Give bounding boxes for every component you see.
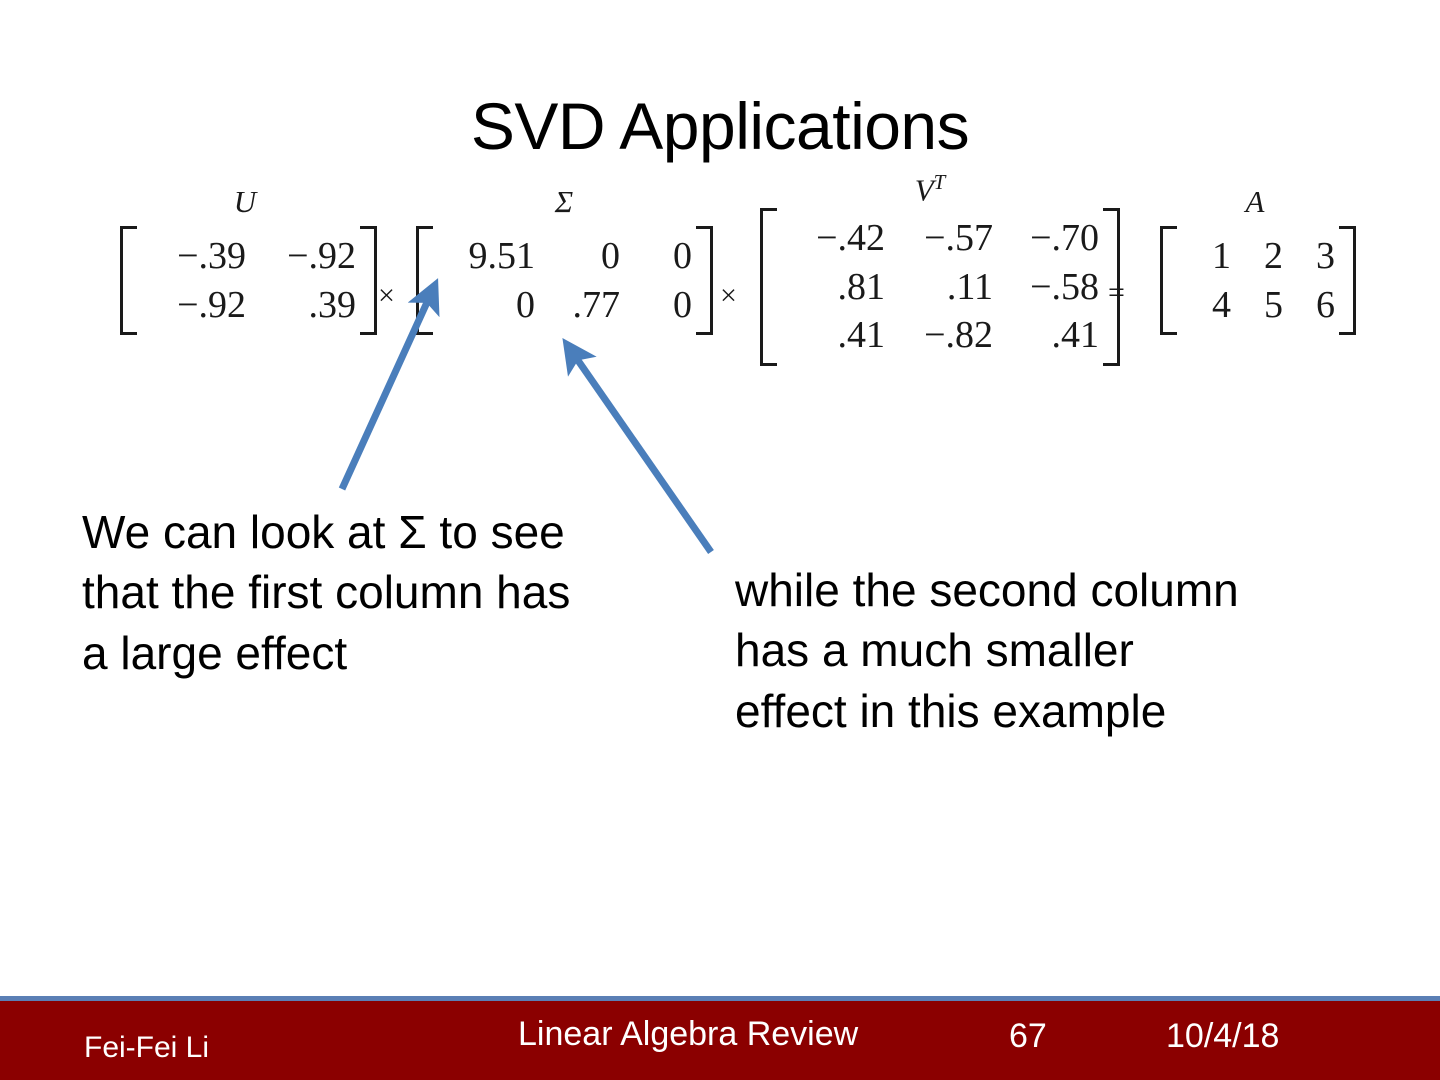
footer-author: Fei-Fei Li (84, 1031, 209, 1065)
matrix-cell: −.92 (246, 232, 356, 281)
matrix-cell: 2 (1231, 232, 1283, 281)
matrix-u-label: U (120, 186, 370, 217)
matrix-cell: 3 (1283, 232, 1335, 281)
matrix-cell: 6 (1283, 281, 1335, 330)
matrix-cell: 9.51 (437, 232, 535, 281)
matrix-cell: −.39 (141, 232, 246, 281)
matrix-sigma: 9.51 0 0 0 .77 0 (416, 226, 713, 335)
footer-page-number: 67 (1009, 1017, 1047, 1056)
slide-canvas: SVD Applications U −.39 −.92 −.92 .39 (0, 0, 1440, 1080)
bracket-right-icon (696, 226, 713, 335)
bracket-left-icon (416, 226, 433, 335)
bracket-left-icon (760, 208, 777, 366)
matrix-row: 0 .77 0 (437, 281, 692, 330)
matrix-cell: .41 (781, 311, 885, 360)
matrix-cell: −.42 (781, 214, 885, 263)
matrix-row: 4 5 6 (1181, 281, 1335, 330)
bracket-left-icon (120, 226, 137, 335)
footer-date: 10/4/18 (1166, 1017, 1279, 1056)
matrix-row: .81 .11 −.58 (781, 263, 1099, 312)
bracket-left-icon (1160, 226, 1177, 335)
matrix-cell: .77 (535, 281, 620, 330)
arrow-to-sigma-second-value (568, 346, 711, 552)
matrix-vt: −.42 −.57 −.70 .81 .11 −.58 .41 −.82 .41 (760, 208, 1120, 366)
matrix-cell: 5 (1231, 281, 1283, 330)
matrix-row: .41 −.82 .41 (781, 311, 1099, 360)
matrix-cell: 4 (1181, 281, 1231, 330)
matrix-cell: 1 (1181, 232, 1231, 281)
matrix-cell: −.82 (885, 311, 993, 360)
matrix-row: −.42 −.57 −.70 (781, 214, 1099, 263)
matrix-cell: 0 (620, 232, 692, 281)
matrix-cell: 0 (535, 232, 620, 281)
matrix-cell: −.57 (885, 214, 993, 263)
bracket-right-icon (1339, 226, 1356, 335)
matrix-u: −.39 −.92 −.92 .39 (120, 226, 377, 335)
matrix-vt-label: VT (760, 172, 1100, 205)
multiply-operator-2: × (720, 281, 737, 311)
annotation-text-left: We can look at Σ to see that the first c… (82, 502, 582, 683)
equals-operator: = (1108, 278, 1125, 308)
matrix-cell: −.70 (993, 214, 1099, 263)
annotation-text-right: while the second column has a much small… (735, 560, 1255, 741)
matrix-cell: −.58 (993, 263, 1099, 312)
bracket-right-icon (360, 226, 377, 335)
matrix-cell: −.92 (141, 281, 246, 330)
matrix-cell: .39 (246, 281, 356, 330)
matrix-cell: .81 (781, 263, 885, 312)
matrix-a: 1 2 3 4 5 6 (1160, 226, 1356, 335)
matrix-cell: .11 (885, 263, 993, 312)
matrix-row: −.92 .39 (141, 281, 356, 330)
footer-subject: Linear Algebra Review (518, 1015, 858, 1054)
matrix-row: 9.51 0 0 (437, 232, 692, 281)
page-title: SVD Applications (0, 92, 1440, 161)
matrix-sigma-label: Σ (416, 186, 712, 217)
matrix-vt-base: V (915, 172, 934, 207)
slide-footer: Fei-Fei Li Linear Algebra Review 67 10/4… (0, 996, 1440, 1080)
matrix-a-label: A (1160, 186, 1350, 217)
matrix-row: −.39 −.92 (141, 232, 356, 281)
matrix-cell: 0 (437, 281, 535, 330)
matrix-vt-superscript: T (934, 170, 946, 194)
matrix-cell: .41 (993, 311, 1099, 360)
svd-equation: U −.39 −.92 −.92 .39 × Σ (120, 186, 1340, 366)
matrix-row: 1 2 3 (1181, 232, 1335, 281)
multiply-operator-1: × (378, 281, 395, 311)
matrix-cell: 0 (620, 281, 692, 330)
